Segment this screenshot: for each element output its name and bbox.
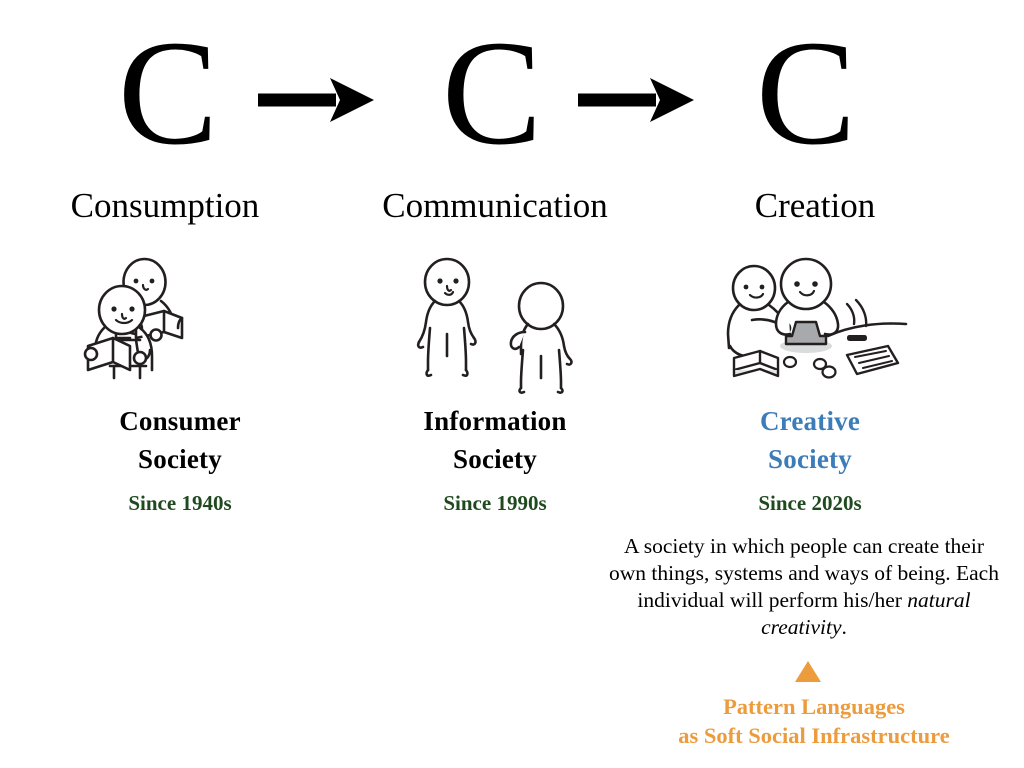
footer-line2: as Soft Social Infrastructure: [624, 721, 1004, 750]
footer-caption: Pattern Languages as Soft Social Infrast…: [624, 692, 1004, 750]
since-label-creative: Since 2020s: [645, 490, 975, 516]
creative-society-description: A society in which people can create the…: [604, 533, 1004, 641]
stage-title-creation: Creation: [650, 185, 980, 227]
society-name-consumer: Consumer Society: [15, 402, 345, 478]
arrow-right-icon-2: [576, 72, 696, 128]
stage-title-communication: Communication: [330, 185, 660, 227]
arrow-right-icon-1: [256, 72, 376, 128]
big-letter-creation: C: [706, 18, 906, 168]
slide-canvas: C C C Consumption Communication Creation: [0, 0, 1024, 768]
big-letter-communication: C: [392, 18, 592, 168]
since-label-consumer: Since 1940s: [15, 490, 345, 516]
society-name-line1: Consumer: [15, 402, 345, 440]
society-name-line2: Society: [645, 440, 975, 478]
society-name-line1: Information: [330, 402, 660, 440]
stage-title-consumption: Consumption: [0, 185, 330, 227]
illustration-two-people-talking: [404, 258, 594, 390]
illustration-two-people-reading: [78, 258, 268, 390]
since-label-information: Since 1990s: [330, 490, 660, 516]
society-name-line1: Creative: [645, 402, 975, 440]
triangle-up-icon: [795, 661, 821, 682]
society-name-line2: Society: [15, 440, 345, 478]
description-part2: .: [842, 615, 847, 639]
illustration-two-people-creating: [716, 258, 912, 386]
society-name-line2: Society: [330, 440, 660, 478]
society-name-creative: Creative Society: [645, 402, 975, 478]
footer-line1: Pattern Languages: [624, 692, 1004, 721]
big-letter-consumption: C: [68, 18, 268, 168]
society-name-information: Information Society: [330, 402, 660, 478]
